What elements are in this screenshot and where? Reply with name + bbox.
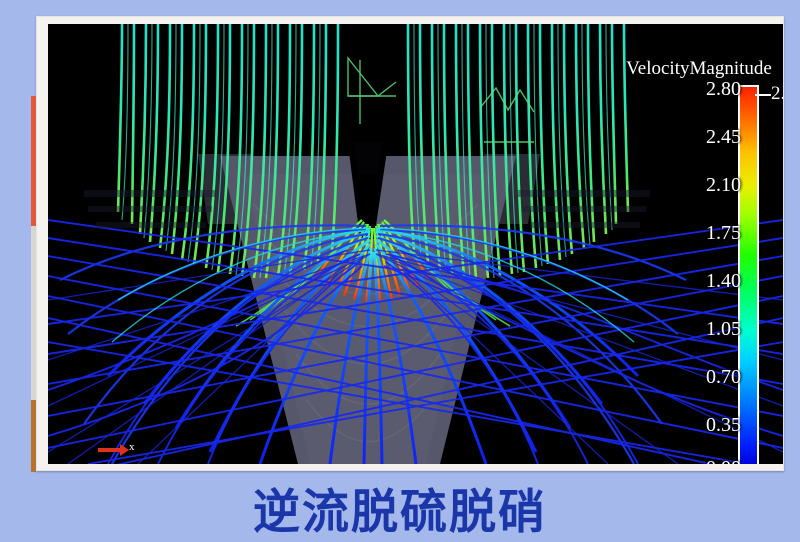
left-frame-strip-neutral [31, 226, 36, 400]
x-axis-arrowhead-icon [120, 444, 129, 456]
axis-orientation-widget: x [98, 440, 144, 460]
left-frame-strip-red [31, 96, 36, 226]
x-axis-arrow-icon [98, 448, 122, 452]
streamline-scene [48, 24, 783, 464]
left-frame-strip-orange [31, 400, 36, 472]
x-axis-label: x [129, 441, 135, 453]
cfd-visualization-screenshot: x VelocityMagnitude 2.80 2.45 2.10 1.75 … [0, 0, 800, 542]
render-viewport[interactable]: x VelocityMagnitude 2.80 2.45 2.10 1.75 … [48, 24, 783, 464]
figure-caption: 逆流脱硫脱硝 [0, 472, 800, 542]
